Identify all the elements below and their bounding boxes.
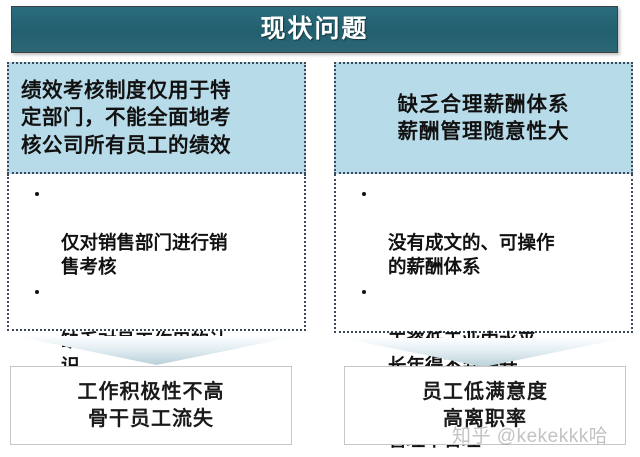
column-compensation-system: 缺乏合理薪酬体系 薪酬管理随意性大 没有成文的、可操作 的薪酬体系 工资低于业内…	[334, 62, 633, 333]
list-item-text: 没有成文的、可操作 的薪酬体系	[388, 232, 555, 277]
down-arrow-right	[334, 336, 633, 369]
list-item: 没有成文的、可操作 的薪酬体系	[340, 182, 625, 280]
slide-canvas: 现状问题 绩效考核制度仅用于特 定部门，不能全面地考 核公司所有员工的绩效 仅对…	[0, 0, 640, 457]
column-header-text-left: 绩效考核制度仅用于特 定部门，不能全面地考 核公司所有员工的绩效	[21, 77, 231, 159]
slide-title-banner: 现状问题	[11, 6, 618, 53]
list-item: 仅对销售部门进行销 售考核	[13, 182, 298, 280]
column-header-text-right: 缺乏合理薪酬体系 薪酬管理随意性大	[398, 91, 570, 146]
column-body-box-right: 没有成文的、可操作 的薪酬体系 工资低于业内水平， 长年得不到提升 管理不合理	[334, 174, 633, 333]
column-header-box-left: 绩效考核制度仅用于特 定部门，不能全面地考 核公司所有员工的绩效	[7, 62, 306, 174]
bullet-dot-icon	[362, 290, 366, 294]
page-title: 现状问题	[260, 17, 368, 42]
down-arrow-left	[7, 334, 306, 367]
column-performance-appraisal: 绩效考核制度仅用于特 定部门，不能全面地考 核公司所有员工的绩效 仅对销售部门进…	[7, 62, 306, 331]
bullet-dot-icon	[35, 290, 39, 294]
list-item-text: 仅对销售部门进行销 售考核	[61, 232, 228, 277]
result-text-right: 员工低满意度 高离职率	[422, 379, 548, 433]
bullet-dot-icon	[35, 192, 39, 196]
column-body-box-left: 仅对销售部门进行销 售考核 缺乏对员工作用的认 识	[7, 174, 306, 331]
column-header-box-right: 缺乏合理薪酬体系 薪酬管理随意性大	[334, 62, 633, 174]
result-text-left: 工作积极性不高 骨干员工流失	[78, 379, 225, 433]
result-box-left: 工作积极性不高 骨干员工流失	[10, 366, 292, 445]
result-box-right: 员工低满意度 高离职率	[344, 366, 626, 445]
bullet-dot-icon	[362, 192, 366, 196]
